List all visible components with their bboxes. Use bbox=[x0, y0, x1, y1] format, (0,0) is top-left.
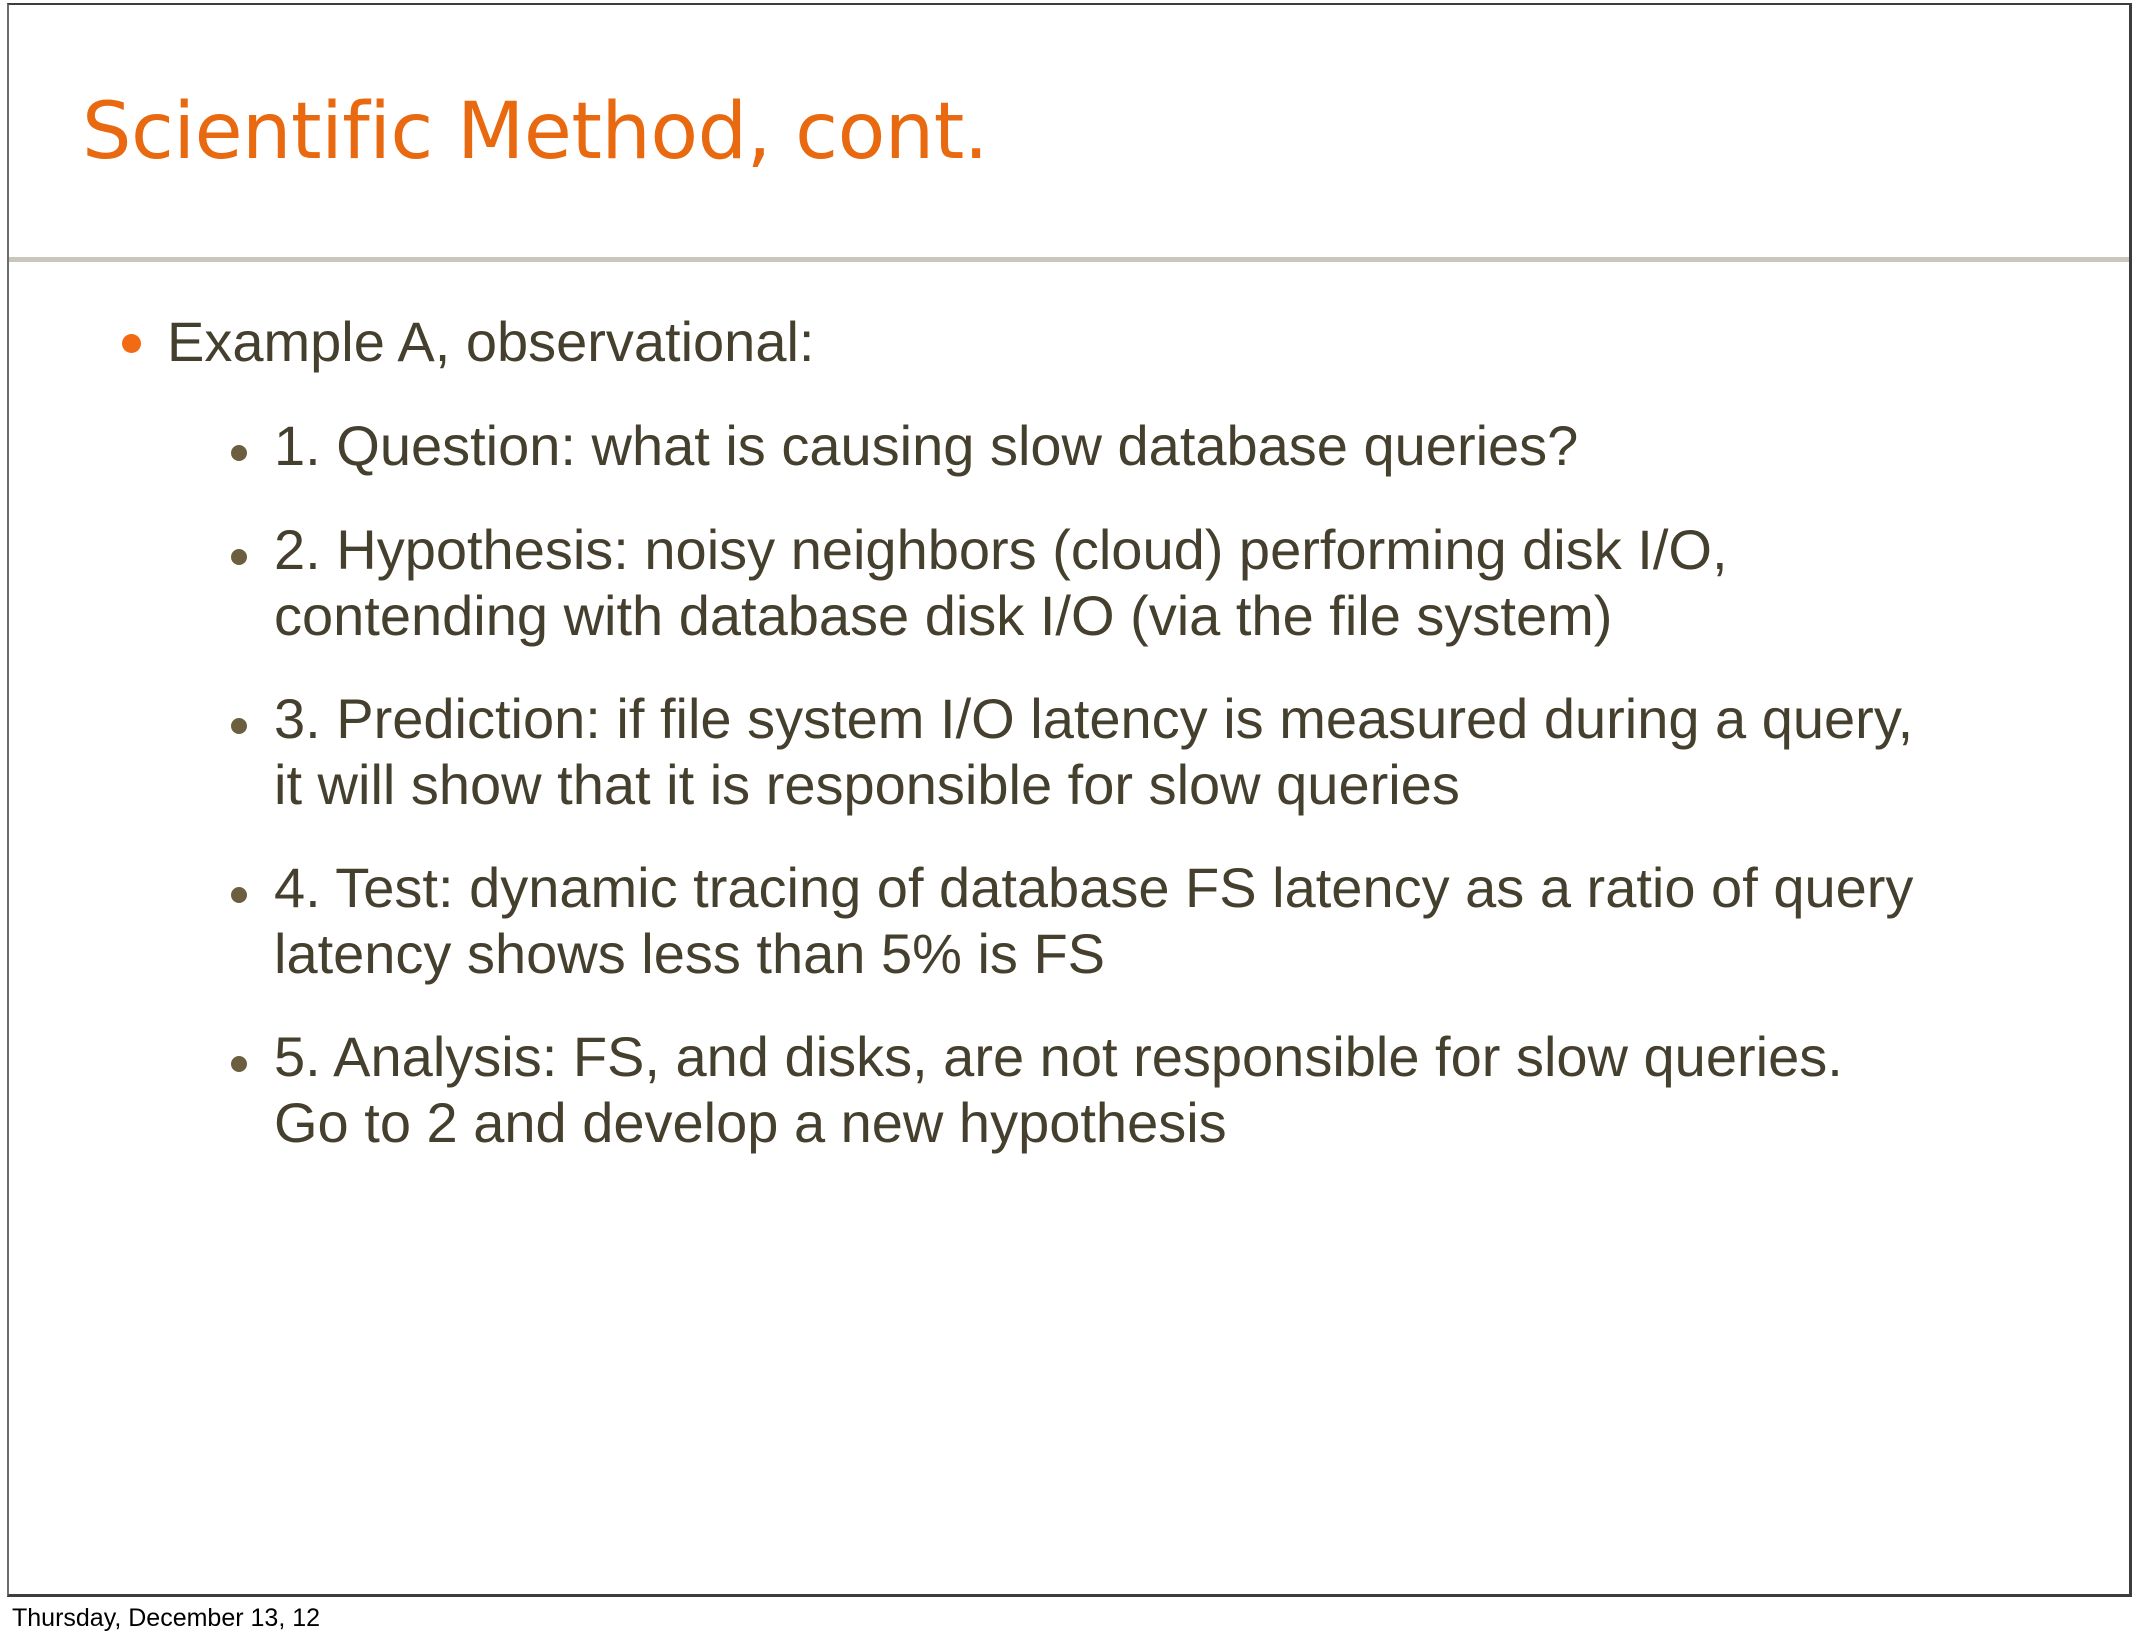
bullet-dot-icon bbox=[122, 334, 141, 353]
bullet-dot-icon bbox=[231, 887, 247, 903]
list-item-label: Example A, observational: bbox=[167, 305, 814, 379]
title-divider bbox=[9, 257, 2132, 262]
presentation-slide: Scientific Method, cont. Example A, obse… bbox=[7, 3, 2132, 1597]
slide-title-area: Scientific Method, cont. bbox=[82, 93, 2042, 193]
list-item: 2. Hypothesis: noisy neighbors (cloud) p… bbox=[231, 517, 2132, 648]
footer-date: Thursday, December 13, 12 bbox=[12, 1604, 320, 1633]
list-item: 4. Test: dynamic tracing of database FS … bbox=[231, 855, 2132, 986]
bullet-dot-icon bbox=[231, 1056, 247, 1072]
list-item: 3. Prediction: if file system I/O latenc… bbox=[231, 686, 2132, 817]
list-item: 5. Analysis: FS, and disks, are not resp… bbox=[231, 1024, 2132, 1155]
slide-body: Example A, observational: 1. Question: w… bbox=[9, 305, 2132, 1193]
list-item-label: 3. Prediction: if file system I/O latenc… bbox=[274, 686, 1914, 817]
list-item-label: 5. Analysis: FS, and disks, are not resp… bbox=[274, 1024, 1914, 1155]
bullet-dot-icon bbox=[231, 718, 247, 734]
list-item: Example A, observational: bbox=[122, 305, 2132, 379]
page-title: Scientific Method, cont. bbox=[82, 93, 2042, 171]
list-item-label: 1. Question: what is causing slow databa… bbox=[274, 413, 1578, 479]
list-item-label: 2. Hypothesis: noisy neighbors (cloud) p… bbox=[274, 517, 1914, 648]
bullet-dot-icon bbox=[231, 549, 247, 565]
bullet-dot-icon bbox=[231, 445, 247, 461]
list-item-label: 4. Test: dynamic tracing of database FS … bbox=[274, 855, 1914, 986]
list-item: 1. Question: what is causing slow databa… bbox=[231, 413, 2132, 479]
